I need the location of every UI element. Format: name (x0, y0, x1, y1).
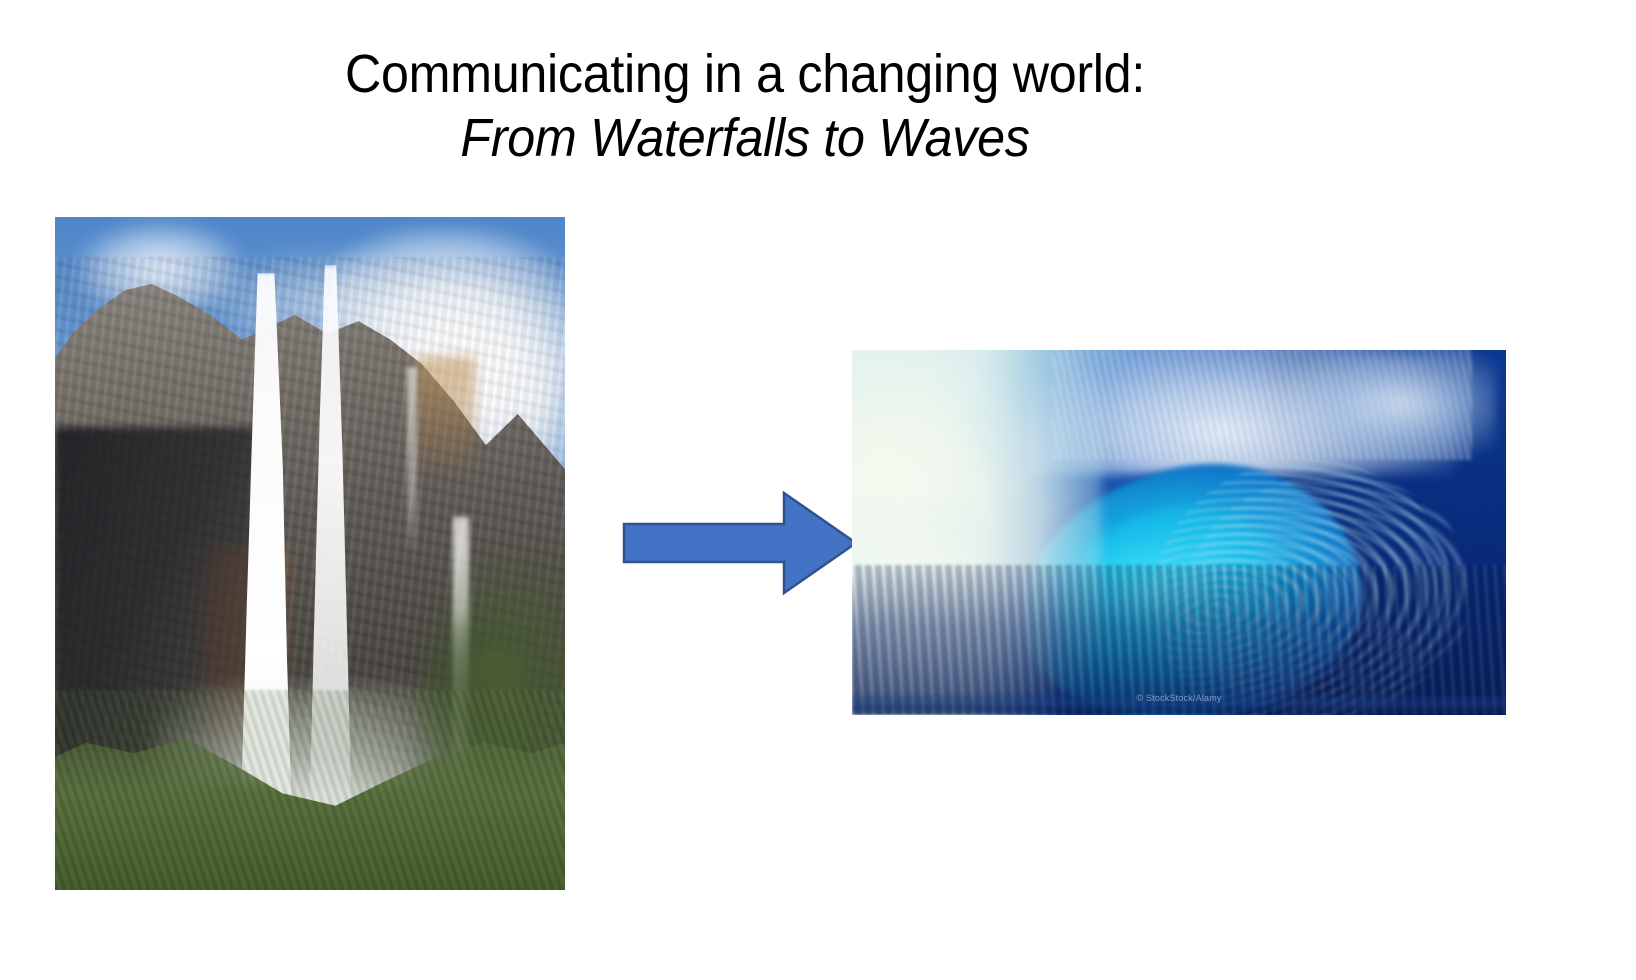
transition-arrow (620, 488, 860, 598)
right-arrow-shape (624, 493, 856, 593)
wave-watermark: © StockStock/Alamy (1136, 693, 1221, 703)
wave-foam-right (1286, 354, 1496, 464)
vegetation-texture (55, 690, 565, 890)
right-arrow-icon (620, 488, 860, 598)
slide-canvas: Communicating in a changing world: From … (0, 0, 1636, 980)
waterfall-image (55, 217, 565, 890)
waterfall-stream-thin-upper (407, 367, 417, 557)
title-line-subtitle: From Waterfalls to Waves (52, 108, 1438, 168)
wave-image: © StockStock/Alamy (852, 350, 1506, 715)
title-line-primary: Communicating in a changing world: (52, 44, 1438, 104)
rock-ochre-band-upper (415, 357, 475, 477)
page-title: Communicating in a changing world: From … (0, 44, 1490, 169)
